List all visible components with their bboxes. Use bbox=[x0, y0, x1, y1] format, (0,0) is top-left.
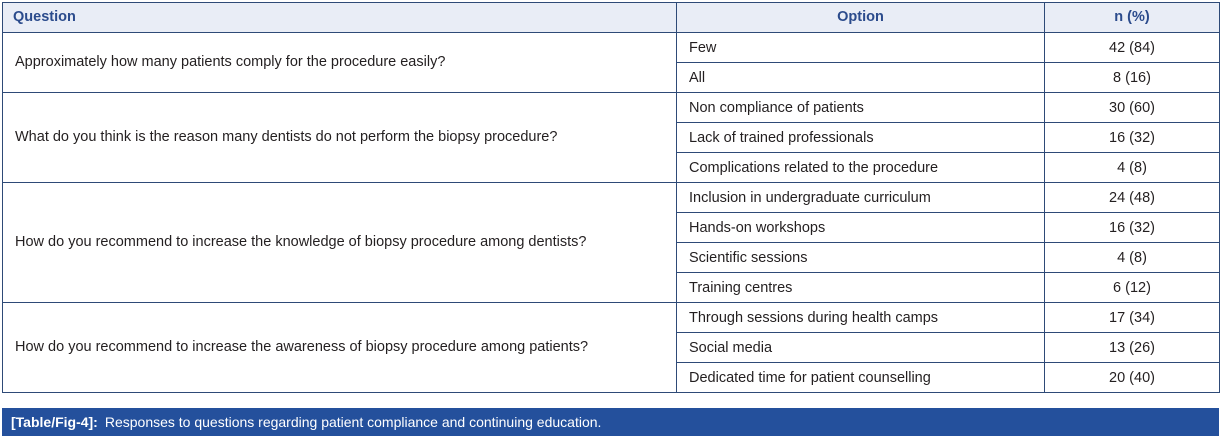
column-header-option: Option bbox=[677, 3, 1045, 33]
count-percent-cell: 30 (60) bbox=[1045, 93, 1220, 123]
option-cell: Hands-on workshops bbox=[677, 213, 1045, 243]
option-cell: Inclusion in undergraduate curriculum bbox=[677, 183, 1045, 213]
caption-text: Responses to questions regarding patient… bbox=[105, 414, 602, 430]
option-cell: Scientific sessions bbox=[677, 243, 1045, 273]
table-row: What do you think is the reason many den… bbox=[3, 93, 1220, 123]
column-header-question: Question bbox=[3, 3, 677, 33]
count-percent-cell: 17 (34) bbox=[1045, 303, 1220, 333]
option-cell: Few bbox=[677, 33, 1045, 63]
table-row: How do you recommend to increase the kno… bbox=[3, 183, 1220, 213]
count-percent-cell: 24 (48) bbox=[1045, 183, 1220, 213]
count-percent-cell: 4 (8) bbox=[1045, 153, 1220, 183]
option-cell: Training centres bbox=[677, 273, 1045, 303]
option-cell: Dedicated time for patient counselling bbox=[677, 363, 1045, 393]
count-percent-cell: 6 (12) bbox=[1045, 273, 1220, 303]
table-body: Approximately how many patients comply f… bbox=[3, 33, 1220, 393]
option-cell: All bbox=[677, 63, 1045, 93]
question-cell: How do you recommend to increase the kno… bbox=[3, 183, 677, 303]
table-header: Question Option n (%) bbox=[3, 3, 1220, 33]
count-percent-cell: 20 (40) bbox=[1045, 363, 1220, 393]
column-header-n-percent: n (%) bbox=[1045, 3, 1220, 33]
option-cell: Lack of trained professionals bbox=[677, 123, 1045, 153]
count-percent-cell: 13 (26) bbox=[1045, 333, 1220, 363]
count-percent-cell: 4 (8) bbox=[1045, 243, 1220, 273]
question-cell: How do you recommend to increase the awa… bbox=[3, 303, 677, 393]
figure-caption-bar: [Table/Fig-4]: Responses to questions re… bbox=[2, 408, 1219, 436]
table-row: How do you recommend to increase the awa… bbox=[3, 303, 1220, 333]
question-cell: What do you think is the reason many den… bbox=[3, 93, 677, 183]
count-percent-cell: 16 (32) bbox=[1045, 213, 1220, 243]
option-cell: Through sessions during health camps bbox=[677, 303, 1045, 333]
count-percent-cell: 8 (16) bbox=[1045, 63, 1220, 93]
table-row: Approximately how many patients comply f… bbox=[3, 33, 1220, 63]
header-row: Question Option n (%) bbox=[3, 3, 1220, 33]
count-percent-cell: 42 (84) bbox=[1045, 33, 1220, 63]
responses-table: Question Option n (%) Approximately how … bbox=[2, 2, 1220, 393]
count-percent-cell: 16 (32) bbox=[1045, 123, 1220, 153]
question-cell: Approximately how many patients comply f… bbox=[3, 33, 677, 93]
table-figure: Question Option n (%) Approximately how … bbox=[0, 2, 1221, 440]
caption-label: [Table/Fig-4]: bbox=[11, 414, 98, 430]
option-cell: Complications related to the procedure bbox=[677, 153, 1045, 183]
option-cell: Social media bbox=[677, 333, 1045, 363]
option-cell: Non compliance of patients bbox=[677, 93, 1045, 123]
